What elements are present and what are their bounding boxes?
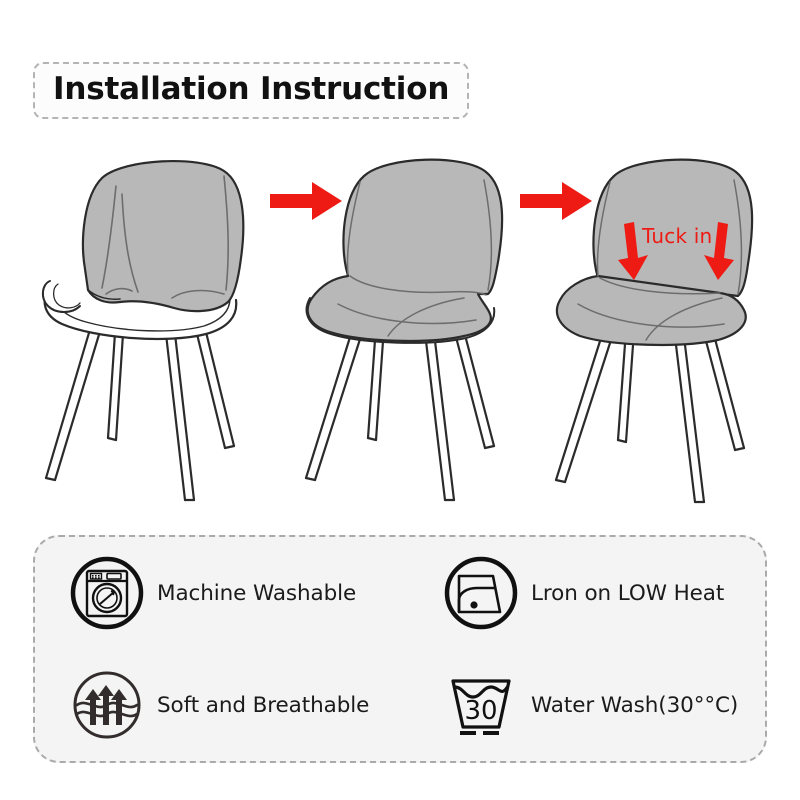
chair-cover-1 xyxy=(83,161,243,311)
care-instructions-grid: Machine Washable Lron on LOW Heat xyxy=(35,537,765,761)
chair-step-1 xyxy=(28,148,278,520)
care-label-soft-breathable: Soft and Breathable xyxy=(157,693,369,718)
chair-step-3 xyxy=(538,148,788,520)
care-label-iron-low-heat: Lron on LOW Heat xyxy=(531,581,724,606)
page-title: Installation Instruction xyxy=(53,73,449,106)
care-item-soft-breathable: Soft and Breathable xyxy=(35,667,435,743)
washing-machine-icon xyxy=(69,555,145,631)
care-item-water-wash: 30 Water Wash(30°°C) xyxy=(435,667,769,743)
installation-steps xyxy=(0,148,800,520)
chair-step-2 xyxy=(288,148,538,520)
care-item-machine-washable: Machine Washable xyxy=(35,555,435,631)
wash-temperature-value: 30 xyxy=(464,696,497,726)
wash-tub-icon: 30 xyxy=(443,667,519,743)
page-title-box: Installation Instruction xyxy=(33,62,469,119)
chair-step-3-illustration xyxy=(538,148,788,520)
chair-cover-3-back xyxy=(593,160,752,296)
care-label-machine-washable: Machine Washable xyxy=(157,581,356,606)
chair-step-1-illustration xyxy=(28,148,278,520)
care-item-iron-low-heat: Lron on LOW Heat xyxy=(435,555,769,631)
chair-cover-2 xyxy=(308,160,502,341)
iron-icon xyxy=(443,555,519,631)
instruction-page: Installation Instruction xyxy=(0,0,800,800)
chair-step-2-illustration xyxy=(288,148,538,520)
breathable-arrows-icon xyxy=(69,667,145,743)
care-instructions-panel: Machine Washable Lron on LOW Heat xyxy=(33,535,767,763)
care-label-water-wash: Water Wash(30°°C) xyxy=(531,693,738,718)
